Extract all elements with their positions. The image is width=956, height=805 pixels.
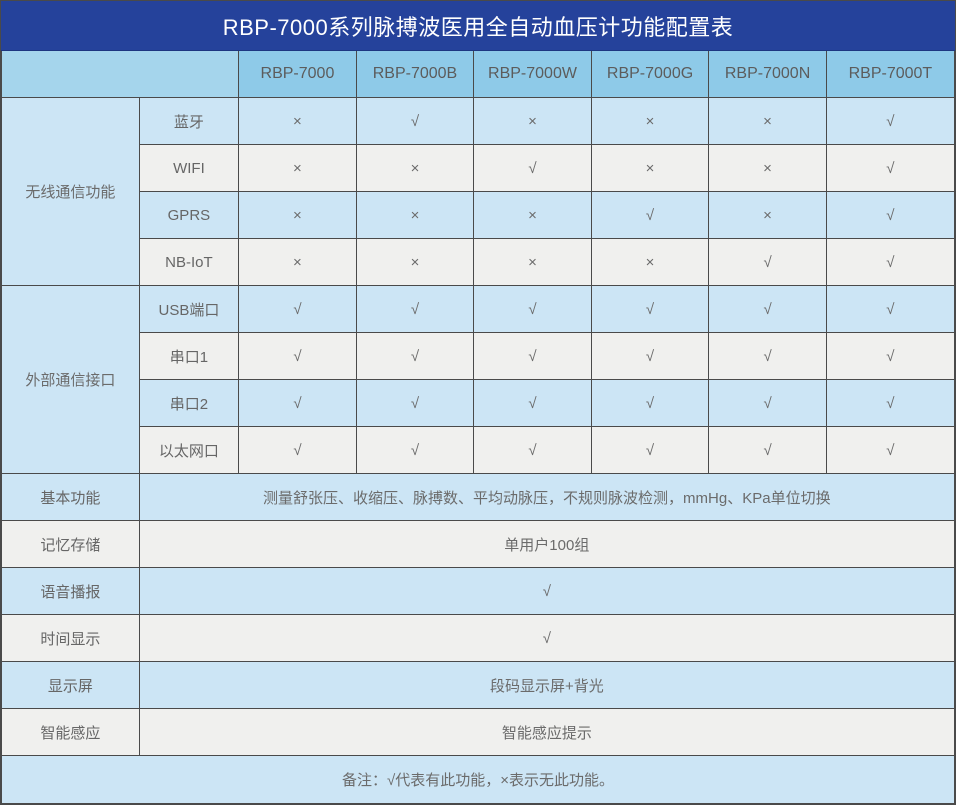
cell-value: × bbox=[474, 98, 592, 145]
footer-remark: 备注：√代表有此功能，×表示无此功能。 bbox=[2, 756, 955, 804]
row-label-voice-broadcast: 语音播报 bbox=[2, 568, 140, 615]
cell-value: √ bbox=[239, 427, 357, 474]
group-label-wireless: 无线通信功能 bbox=[2, 98, 140, 286]
table-row: NB-IoT × × × × √ √ bbox=[2, 239, 955, 286]
row-label-wifi: WIFI bbox=[139, 145, 239, 192]
cell-value: √ bbox=[709, 380, 827, 427]
header-row: RBP-7000 RBP-7000B RBP-7000W RBP-7000G R… bbox=[2, 51, 955, 98]
table-row: GPRS × × × √ × √ bbox=[2, 192, 955, 239]
cell-value: √ bbox=[591, 286, 709, 333]
cell-value: √ bbox=[474, 333, 592, 380]
row-label-nbiot: NB-IoT bbox=[139, 239, 239, 286]
cell-value: √ bbox=[239, 380, 357, 427]
cell-value: × bbox=[356, 239, 474, 286]
cell-value: × bbox=[239, 145, 357, 192]
cell-value: × bbox=[239, 239, 357, 286]
table-row: 语音播报 √ bbox=[2, 568, 955, 615]
cell-value: √ bbox=[826, 192, 954, 239]
cell-value: √ bbox=[709, 333, 827, 380]
row-label-ethernet: 以太网口 bbox=[139, 427, 239, 474]
spec-table-container: RBP-7000系列脉搏波医用全自动血压计功能配置表 RBP-7000 RBP-… bbox=[0, 0, 956, 805]
header-model-rbp-7000: RBP-7000 bbox=[239, 51, 357, 98]
cell-value: √ bbox=[356, 286, 474, 333]
footer-row: 备注：√代表有此功能，×表示无此功能。 bbox=[2, 756, 955, 804]
table-row: 外部通信接口 USB端口 √ √ √ √ √ √ bbox=[2, 286, 955, 333]
cell-value-smart-sensing: 智能感应提示 bbox=[139, 709, 954, 756]
row-label-serial-2: 串口2 bbox=[139, 380, 239, 427]
header-blank-cell bbox=[2, 51, 239, 98]
table-row: WIFI × × √ × × √ bbox=[2, 145, 955, 192]
cell-value: × bbox=[591, 239, 709, 286]
table-title: RBP-7000系列脉搏波医用全自动血压计功能配置表 bbox=[2, 2, 955, 51]
cell-value: √ bbox=[826, 427, 954, 474]
header-model-rbp-7000t: RBP-7000T bbox=[826, 51, 954, 98]
cell-value-basic-function: 测量舒张压、收缩压、脉搏数、平均动脉压，不规则脉波检测，mmHg、KPa单位切换 bbox=[139, 474, 954, 521]
cell-value: × bbox=[591, 145, 709, 192]
table-row: 智能感应 智能感应提示 bbox=[2, 709, 955, 756]
row-label-memory-storage: 记忆存储 bbox=[2, 521, 140, 568]
header-model-rbp-7000w: RBP-7000W bbox=[474, 51, 592, 98]
table-row: 串口1 √ √ √ √ √ √ bbox=[2, 333, 955, 380]
table-row: 以太网口 √ √ √ √ √ √ bbox=[2, 427, 955, 474]
cell-value: √ bbox=[239, 286, 357, 333]
title-row: RBP-7000系列脉搏波医用全自动血压计功能配置表 bbox=[2, 2, 955, 51]
cell-value: × bbox=[474, 239, 592, 286]
table-row: 串口2 √ √ √ √ √ √ bbox=[2, 380, 955, 427]
cell-value: √ bbox=[474, 286, 592, 333]
cell-value: √ bbox=[709, 239, 827, 286]
cell-value: √ bbox=[239, 333, 357, 380]
cell-value: √ bbox=[591, 192, 709, 239]
cell-value: × bbox=[239, 192, 357, 239]
cell-value: √ bbox=[591, 333, 709, 380]
header-model-rbp-7000b: RBP-7000B bbox=[356, 51, 474, 98]
row-label-serial-1: 串口1 bbox=[139, 333, 239, 380]
row-label-smart-sensing: 智能感应 bbox=[2, 709, 140, 756]
cell-value: × bbox=[356, 145, 474, 192]
cell-value: √ bbox=[474, 145, 592, 192]
cell-value: √ bbox=[709, 286, 827, 333]
cell-value-display-screen: 段码显示屏+背光 bbox=[139, 662, 954, 709]
row-label-bluetooth: 蓝牙 bbox=[139, 98, 239, 145]
cell-value: √ bbox=[826, 239, 954, 286]
cell-value: √ bbox=[474, 427, 592, 474]
cell-value: √ bbox=[709, 427, 827, 474]
cell-value: √ bbox=[356, 380, 474, 427]
cell-value: √ bbox=[826, 145, 954, 192]
cell-value: × bbox=[709, 192, 827, 239]
table-row: 无线通信功能 蓝牙 × √ × × × √ bbox=[2, 98, 955, 145]
table-row: 显示屏 段码显示屏+背光 bbox=[2, 662, 955, 709]
cell-value-memory-storage: 单用户100组 bbox=[139, 521, 954, 568]
table-row: 基本功能 测量舒张压、收缩压、脉搏数、平均动脉压，不规则脉波检测，mmHg、KP… bbox=[2, 474, 955, 521]
cell-value: √ bbox=[591, 380, 709, 427]
cell-value: √ bbox=[826, 380, 954, 427]
header-model-rbp-7000g: RBP-7000G bbox=[591, 51, 709, 98]
cell-value: × bbox=[709, 98, 827, 145]
cell-value: √ bbox=[826, 333, 954, 380]
table-row: 记忆存储 单用户100组 bbox=[2, 521, 955, 568]
header-model-rbp-7000n: RBP-7000N bbox=[709, 51, 827, 98]
cell-value: √ bbox=[356, 333, 474, 380]
cell-value-time-display: √ bbox=[139, 615, 954, 662]
cell-value-voice-broadcast: √ bbox=[139, 568, 954, 615]
cell-value: √ bbox=[474, 380, 592, 427]
group-label-external-interface: 外部通信接口 bbox=[2, 286, 140, 474]
table-row: 时间显示 √ bbox=[2, 615, 955, 662]
spec-table: RBP-7000系列脉搏波医用全自动血压计功能配置表 RBP-7000 RBP-… bbox=[1, 1, 955, 804]
cell-value: √ bbox=[356, 98, 474, 145]
cell-value: √ bbox=[356, 427, 474, 474]
cell-value: × bbox=[356, 192, 474, 239]
cell-value: × bbox=[591, 98, 709, 145]
cell-value: × bbox=[709, 145, 827, 192]
cell-value: √ bbox=[826, 98, 954, 145]
row-label-usb-port: USB端口 bbox=[139, 286, 239, 333]
cell-value: √ bbox=[591, 427, 709, 474]
cell-value: × bbox=[239, 98, 357, 145]
row-label-time-display: 时间显示 bbox=[2, 615, 140, 662]
row-label-gprs: GPRS bbox=[139, 192, 239, 239]
cell-value: √ bbox=[826, 286, 954, 333]
cell-value: × bbox=[474, 192, 592, 239]
row-label-display-screen: 显示屏 bbox=[2, 662, 140, 709]
row-label-basic-function: 基本功能 bbox=[2, 474, 140, 521]
